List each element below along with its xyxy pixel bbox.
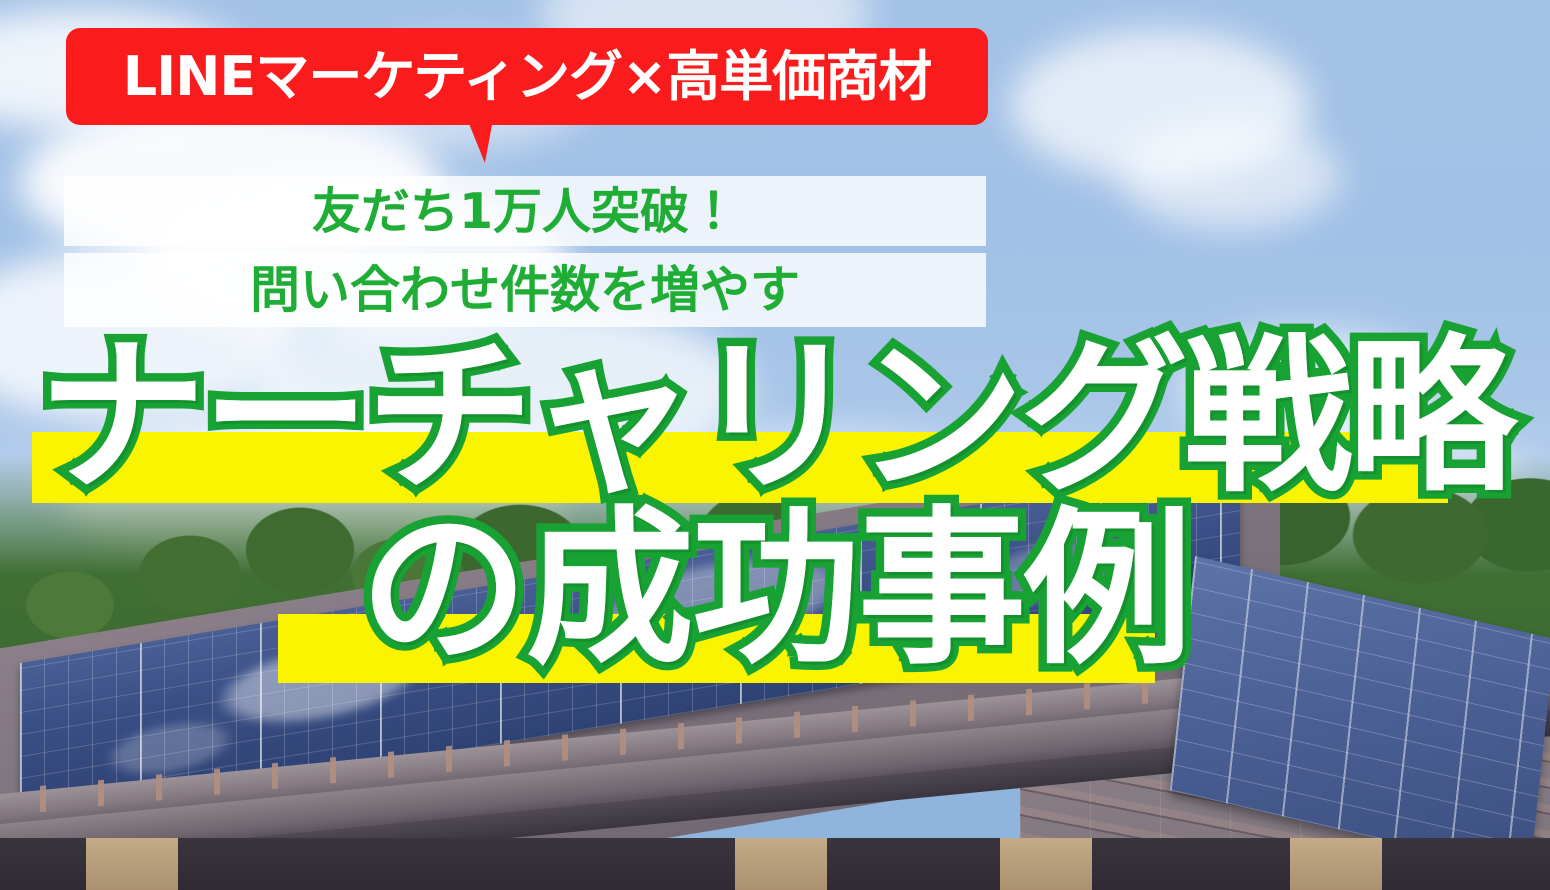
cloud-shape [1120,120,1340,230]
subheading-text-2: 問い合わせ件数を増やす [250,265,800,315]
subheading-text-1: 友だち1万人突破！ [312,187,738,236]
headline-line-1: ナーチャリング戦略 [0,333,1550,501]
support-post [1000,838,1092,890]
support-post [1290,838,1382,890]
subheading-band-2: 問い合わせ件数を増やす [64,253,986,327]
under-eave-soffit [0,838,1550,890]
badge-label: LINEマーケティング×高単価商材 [123,50,932,104]
support-post [86,838,178,890]
subheading-band-1: 友だち1万人突破！ [64,176,986,246]
badge-speech-bubble: LINEマーケティング×高単価商材 [66,28,988,125]
headline-line-2: の成功事例 [0,505,1550,673]
support-post [735,838,827,890]
thumbnail-canvas: ナーチャリング戦略 ナーチャリング戦略 の成功事例 の成功事例 友だち1万人突破… [0,0,1550,890]
